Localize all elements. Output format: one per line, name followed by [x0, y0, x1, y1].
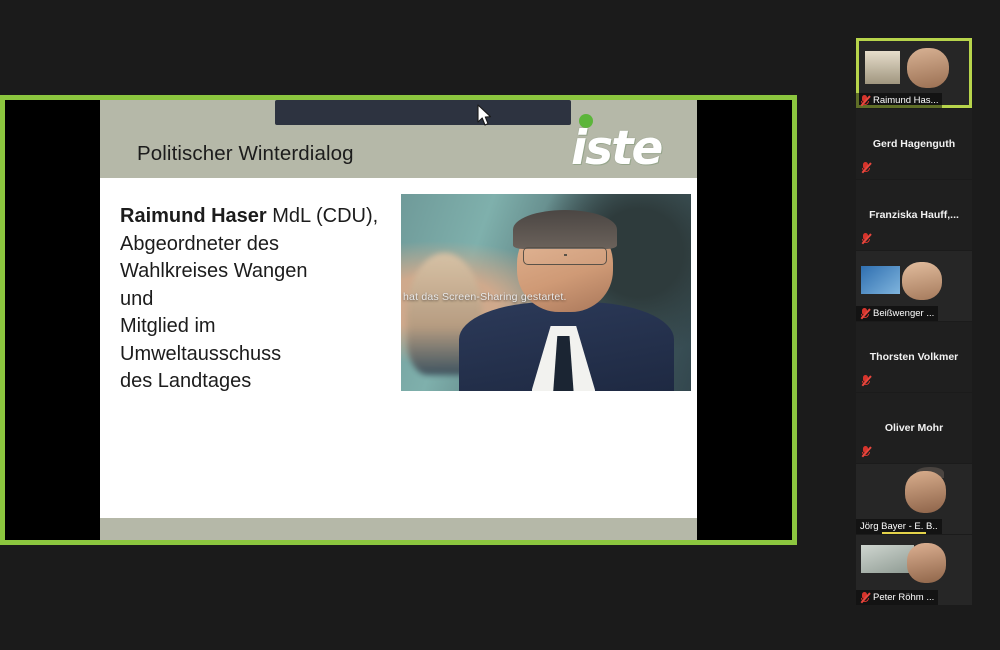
- shared-screen-letterbox: Politischer Winterdialog iste Raimund Ha…: [5, 100, 792, 540]
- mic-muted-icon: [861, 233, 870, 244]
- presentation-slide: Politischer Winterdialog iste Raimund Ha…: [100, 100, 697, 540]
- zoom-meeting-toolbar[interactable]: [275, 100, 571, 125]
- participant-tile-gerd-hagenguth[interactable]: Gerd Hagenguth: [856, 109, 972, 179]
- mic-muted-icon: [861, 375, 870, 386]
- slide-title: Politischer Winterdialog: [137, 142, 354, 166]
- bio-line-4: Umweltausschuss: [120, 343, 281, 365]
- mic-muted-icon: [860, 592, 869, 603]
- participant-name: Gerd Hagenguth: [856, 138, 972, 150]
- participant-name: Thorsten Volkmer: [856, 351, 972, 363]
- zoom-meeting-window: Politischer Winterdialog iste Raimund Ha…: [0, 0, 1000, 650]
- iste-logo: iste: [571, 110, 673, 172]
- portrait-glasses-icon: [523, 247, 607, 265]
- mic-muted-icon: [861, 446, 870, 457]
- participant-name: Peter Röhm ...: [873, 592, 934, 603]
- mic-muted-icon: [860, 308, 869, 319]
- participant-label: Beißwenger ...: [856, 306, 938, 321]
- participant-tile-joerg-bayer[interactable]: Jörg Bayer - E. B..: [856, 464, 972, 534]
- logo-text: iste: [571, 121, 661, 176]
- bio-line-2: und: [120, 288, 153, 310]
- slide-body: Raimund Haser MdL (CDU), Abgeordneter de…: [100, 178, 697, 518]
- participant-name: Oliver Mohr: [856, 422, 972, 434]
- mic-muted-icon: [860, 95, 869, 106]
- shared-screen-stage[interactable]: Politischer Winterdialog iste Raimund Ha…: [0, 95, 797, 545]
- portrait-hair: [513, 210, 617, 249]
- participant-name: Franziska Hauff,...: [856, 209, 972, 221]
- speaker-portrait-photo: hat das Screen-Sharing gestartet.: [401, 194, 691, 391]
- participant-tile-raimund-haser[interactable]: Raimund Has...: [856, 38, 972, 108]
- participant-tile-beisswenger[interactable]: Beißwenger ...: [856, 251, 972, 321]
- bio-line-5: des Landtages: [120, 370, 251, 392]
- slide-footer: [100, 518, 697, 540]
- speaking-indicator-bar: [882, 532, 926, 535]
- bio-line-3: Mitglied im: [120, 315, 216, 337]
- participant-name: Raimund Has...: [873, 95, 938, 106]
- screen-share-notice: hat das Screen-Sharing gestartet.: [401, 291, 691, 303]
- participant-tile-franziska-hauff[interactable]: Franziska Hauff,...: [856, 180, 972, 250]
- speaker-name: Raimund Haser: [120, 205, 267, 227]
- speaker-title: MdL (CDU),: [267, 205, 378, 227]
- participant-label: Peter Röhm ...: [856, 590, 938, 605]
- slide-speaker-bio: Raimund Haser MdL (CDU), Abgeordneter de…: [120, 203, 405, 396]
- bio-line-1: Wahlkreises Wangen: [120, 260, 307, 282]
- participant-tile-thorsten-volkmer[interactable]: Thorsten Volkmer: [856, 322, 972, 392]
- participant-tile-oliver-mohr[interactable]: Oliver Mohr: [856, 393, 972, 463]
- participant-name: Jörg Bayer - E. B..: [860, 521, 938, 532]
- bio-line-0: Abgeordneter des: [120, 233, 279, 255]
- mic-muted-icon: [861, 162, 870, 173]
- participant-label: Raimund Has...: [856, 93, 942, 108]
- participant-name: Beißwenger ...: [873, 308, 934, 319]
- participant-tile-peter-roehm[interactable]: Peter Röhm ...: [856, 535, 972, 605]
- participant-filmstrip[interactable]: Raimund Has... Gerd Hagenguth Franziska …: [828, 0, 1000, 650]
